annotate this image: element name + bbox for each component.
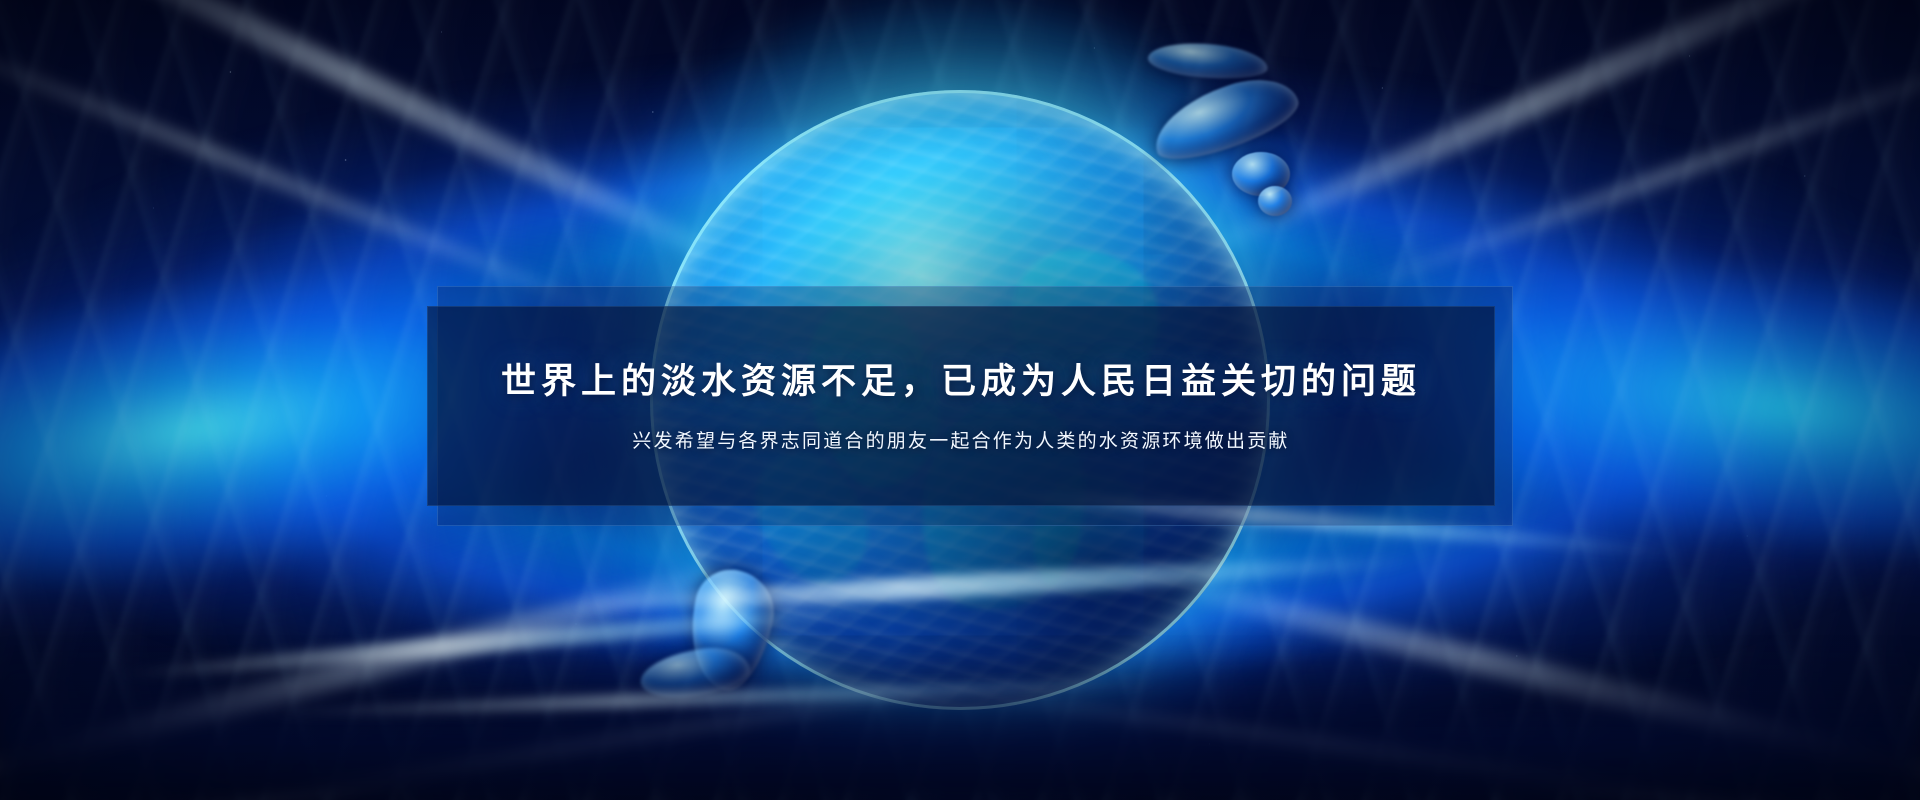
page-subtitle: 兴发希望与各界志同道合的朋友一起合作为人类的水资源环境做出贡献 — [632, 426, 1289, 453]
headline-panel-inner: 世界上的淡水资源不足，已成为人民日益关切的问题 兴发希望与各界志同道合的朋友一起… — [427, 306, 1495, 506]
page-title: 世界上的淡水资源不足，已成为人民日益关切的问题 — [501, 359, 1421, 405]
water-resources-hero-banner: 世界上的淡水资源不足，已成为人民日益关切的问题 兴发希望与各界志同道合的朋友一起… — [0, 0, 1920, 800]
water-droplet — [1258, 186, 1292, 216]
water-surface-shadow — [0, 650, 1920, 800]
